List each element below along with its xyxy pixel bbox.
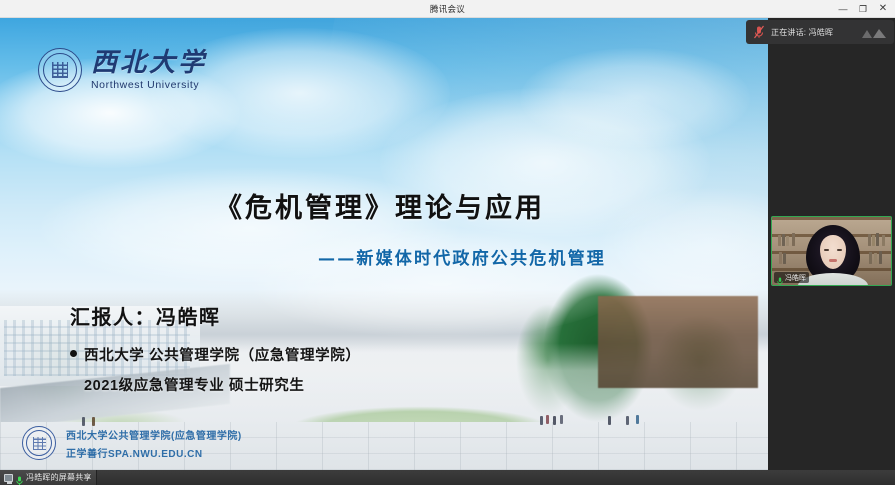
presentation-slide: 西北大学 Northwest University 《危机管理》理论与应用 ——… — [0, 18, 768, 470]
bullet-dot-icon — [70, 350, 77, 357]
maximize-button[interactable]: ❐ — [853, 0, 873, 18]
microphone-on-icon — [777, 273, 783, 282]
footer-line-2: 正学善行SPA.NWU.EDU.CN — [66, 445, 242, 460]
window-controls: — ❐ ✕ — [833, 0, 893, 18]
speaking-indicator-label: 正在讲话: 冯皓晖 — [771, 27, 833, 38]
taskbar-item-label: 冯皓晖的屏幕共享 — [26, 472, 92, 483]
microphone-icon — [16, 473, 23, 483]
slide-bullet-list: 西北大学 公共管理学院（应急管理学院） 2021级应急管理专业 硕士研究生 — [70, 344, 360, 404]
slide-presenter: 汇报人：冯皓晖 — [70, 301, 221, 330]
school-seal-icon — [22, 426, 56, 460]
shared-screen-area[interactable]: 西北大学 Northwest University 《危机管理》理论与应用 ——… — [0, 18, 768, 470]
windows-taskbar: 冯皓晖的屏幕共享 — [0, 470, 895, 485]
minimize-button[interactable]: — — [833, 0, 853, 18]
participant-name-label: 冯皓晖 — [774, 272, 809, 283]
university-seal-icon — [38, 48, 82, 92]
campus-building-right — [598, 296, 758, 388]
slide-footer: 西北大学公共管理学院(应急管理学院) 正学善行SPA.NWU.EDU.CN — [0, 422, 768, 464]
participants-sidebar: 正在讲话: 冯皓晖 — [768, 18, 895, 470]
slide-title: 《危机管理》理论与应用 — [215, 186, 615, 225]
bullet-text: 2021级应急管理专业 硕士研究生 — [84, 374, 304, 395]
audio-wave-icon — [861, 26, 887, 38]
slide-logo-en: Northwest University — [91, 79, 207, 91]
participant-name: 冯皓晖 — [785, 273, 806, 283]
list-item: 2021级应急管理专业 硕士研究生 — [70, 374, 360, 395]
window-title-bar: 腾讯会议 — ❐ ✕ — [0, 0, 895, 18]
tencent-meeting-window: 腾讯会议 — ❐ ✕ — [0, 0, 895, 485]
taskbar-item-screen-share[interactable]: 冯皓晖的屏幕共享 — [0, 470, 97, 485]
slide-subtitle: ——新媒体时代政府公共危机管理 — [318, 244, 738, 269]
microphone-active-icon — [753, 25, 765, 39]
participant-avatar-video — [806, 225, 860, 286]
monitor-icon — [4, 474, 13, 482]
list-item: 西北大学 公共管理学院（应急管理学院） — [70, 344, 360, 365]
footer-line-1: 西北大学公共管理学院(应急管理学院) — [66, 427, 242, 442]
bullet-text: 西北大学 公共管理学院（应急管理学院） — [84, 344, 360, 365]
meeting-body: 西北大学 Northwest University 《危机管理》理论与应用 ——… — [0, 18, 895, 470]
speaking-indicator: 正在讲话: 冯皓晖 — [746, 20, 894, 44]
close-button[interactable]: ✕ — [873, 0, 893, 18]
participant-video-tile[interactable]: 冯皓晖 — [771, 216, 892, 286]
slide-university-logo: 西北大学 Northwest University — [38, 48, 207, 92]
slide-logo-cn: 西北大学 — [91, 50, 207, 76]
window-title: 腾讯会议 — [0, 3, 895, 15]
